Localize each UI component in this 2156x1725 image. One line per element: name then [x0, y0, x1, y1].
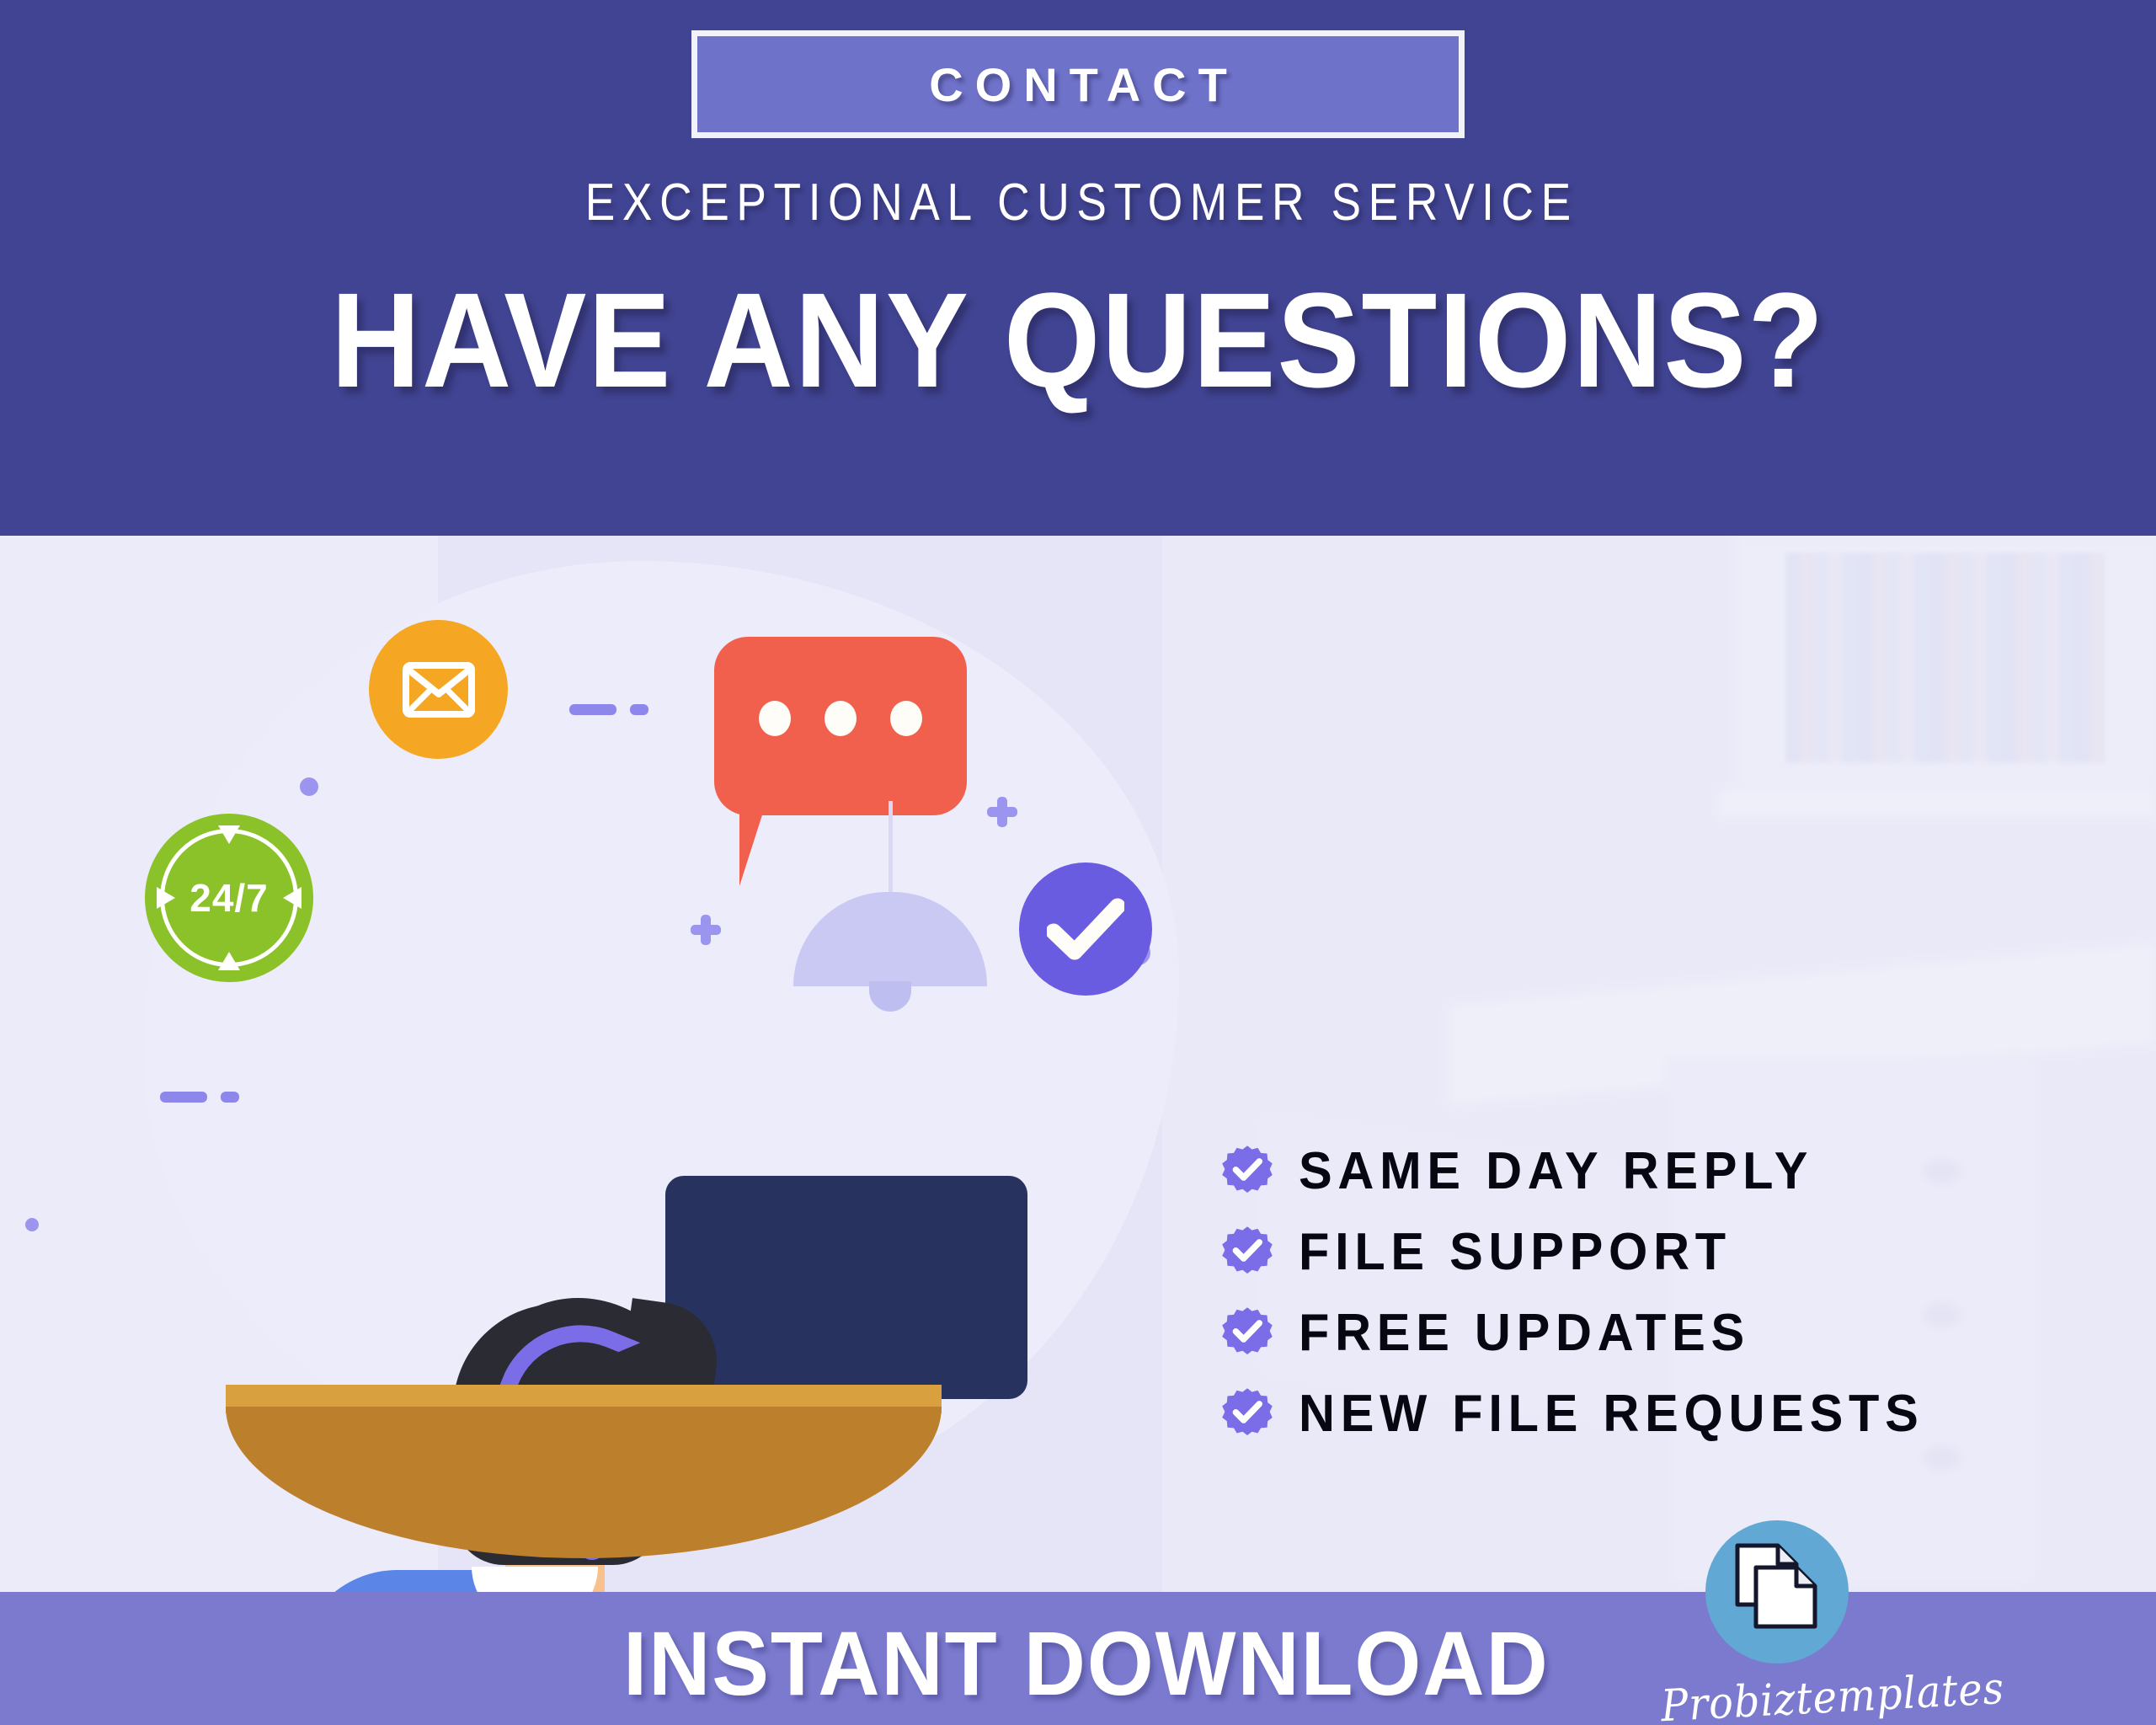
- list-item-label: FREE UPDATES: [1299, 1303, 1750, 1363]
- clock-tick-right: [283, 887, 302, 909]
- contact-badge: CONTACT: [691, 30, 1465, 138]
- content-stage: 24/7: [0, 536, 2156, 1592]
- list-item: SAME DAY REPLY: [1221, 1140, 2105, 1201]
- dash-deco-1: [569, 704, 616, 715]
- page-title: HAVE ANY QUESTIONS?: [86, 270, 2069, 411]
- desk-front: [226, 1407, 942, 1558]
- chat-dot: [890, 701, 922, 736]
- list-item: FILE SUPPORT: [1221, 1221, 2105, 1282]
- verified-check-badge-icon: [1221, 1226, 1273, 1278]
- verified-check-badge-icon: [1221, 1387, 1273, 1439]
- header-eyebrow: EXCEPTIONAL CUSTOMER SERVICE: [151, 173, 2005, 232]
- envelope-icon: [403, 662, 475, 718]
- brand-logo: Probiztemplates: [1651, 1520, 1903, 1725]
- chat-dot: [759, 701, 791, 736]
- clock-tick-bottom: [218, 952, 240, 970]
- keyboard-right: [724, 1353, 884, 1388]
- chat-dot: [825, 701, 857, 736]
- feature-list: SAME DAY REPLY FILE SUPPORT FREE UPDATES: [1221, 1140, 2105, 1464]
- dash-deco-3: [160, 1092, 207, 1103]
- clock-247-badge: 24/7: [145, 814, 313, 982]
- dash-deco-4: [221, 1092, 239, 1103]
- verified-check-badge-icon: [1221, 1306, 1273, 1359]
- brand-logo-circle: [1705, 1520, 1849, 1664]
- support-agent-illustration: 24/7: [0, 536, 1179, 1592]
- clock-tick-top: [218, 825, 240, 844]
- clock-247-label: 24/7: [189, 875, 269, 921]
- contact-badge-label: CONTACT: [917, 57, 1239, 112]
- verified-check-badge-icon: [1221, 1145, 1273, 1197]
- instant-download-label: INSTANT DOWNLOAD: [623, 1610, 1550, 1716]
- promo-graphic: CONTACT EXCEPTIONAL CUSTOMER SERVICE HAV…: [0, 0, 2156, 1725]
- list-item: NEW FILE REQUESTS: [1221, 1383, 2105, 1444]
- plus-deco-2: [691, 915, 721, 945]
- list-item-label: FILE SUPPORT: [1299, 1222, 1732, 1282]
- documents-stack-icon: [1731, 1542, 1823, 1635]
- chat-bubble-icon: [714, 637, 967, 815]
- list-item: FREE UPDATES: [1221, 1302, 2105, 1363]
- list-item-label: NEW FILE REQUESTS: [1299, 1384, 1924, 1444]
- header-band: CONTACT EXCEPTIONAL CUSTOMER SERVICE HAV…: [0, 0, 2156, 536]
- checkmark-icon: [1047, 898, 1124, 960]
- list-item-label: SAME DAY REPLY: [1299, 1141, 1813, 1201]
- agent-collar: [472, 1567, 598, 1592]
- dot-deco-2: [25, 1218, 39, 1231]
- hanging-lamp-icon: [793, 801, 987, 969]
- dash-deco-2: [630, 704, 648, 715]
- clock-tick-left: [157, 887, 175, 909]
- check-circle-icon: [1019, 862, 1152, 996]
- dot-deco-1: [300, 777, 318, 796]
- email-icon-circle: [369, 620, 508, 759]
- plus-deco-1: [987, 797, 1017, 827]
- brand-name-label: Probiztemplates: [1660, 1669, 1895, 1725]
